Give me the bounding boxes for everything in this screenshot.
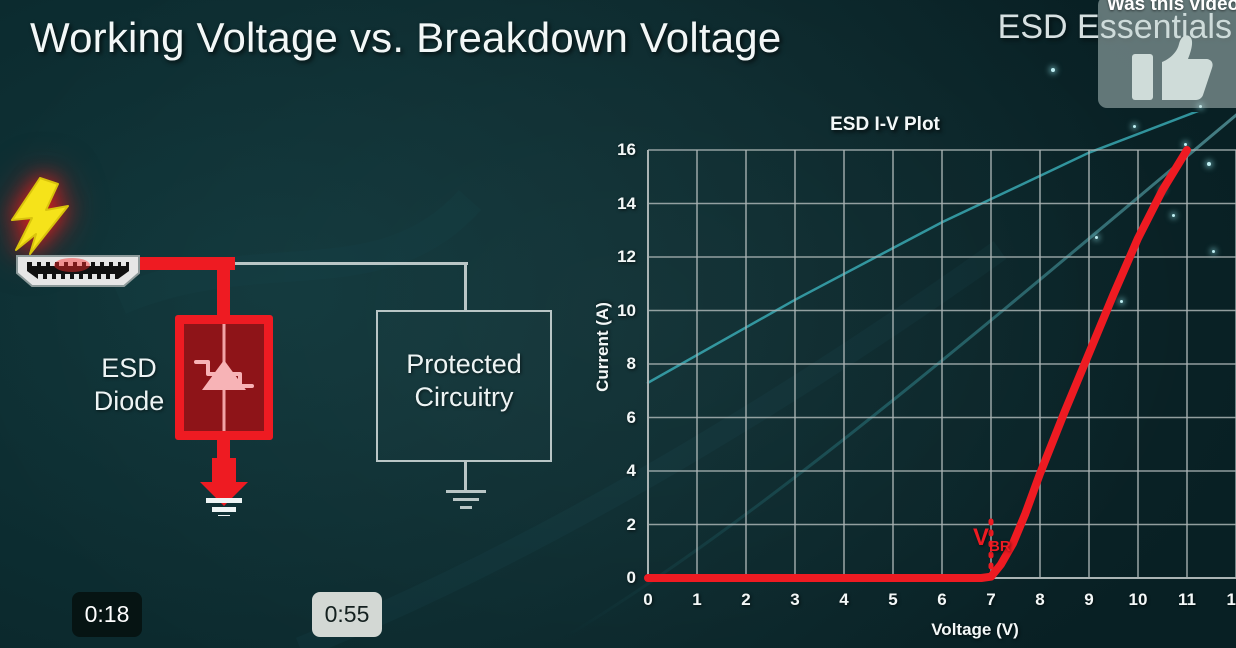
- chart-y-tick: 0: [598, 568, 636, 588]
- timestamp-badge-left[interactable]: 0:18: [72, 592, 142, 637]
- chart-x-tick: 2: [726, 590, 766, 610]
- timestamp-badge-right[interactable]: 0:55: [312, 592, 382, 637]
- signal-wire-top: [228, 262, 468, 265]
- esd-iv-chart: ESD I-V Plot Current (A) Voltage (V) 024…: [575, 112, 1236, 648]
- chart-x-tick: 4: [824, 590, 864, 610]
- circuit-diagram: ESD Diode Protected Circuitry: [0, 170, 600, 550]
- esd-diode-component[interactable]: [175, 315, 273, 440]
- chart-y-tick: 8: [598, 354, 636, 374]
- chart-y-tick: 2: [598, 515, 636, 535]
- esd-diode-label: ESD Diode: [88, 352, 170, 418]
- chart-x-tick: 12: [1216, 590, 1236, 610]
- ground-symbol-icon: [196, 458, 252, 516]
- ground-symbol-icon: [444, 490, 488, 518]
- chart-y-tick: 14: [598, 194, 636, 214]
- chart-y-tick: 12: [598, 247, 636, 267]
- chart-x-tick: 9: [1069, 590, 1109, 610]
- chart-y-tick: 4: [598, 461, 636, 481]
- protected-circuitry-label: Protected Circuitry: [376, 348, 552, 414]
- chart-x-axis-label: Voltage (V): [860, 620, 1090, 640]
- chart-x-tick: 7: [971, 590, 1011, 610]
- chart-x-tick: 8: [1020, 590, 1060, 610]
- chart-y-tick: 10: [598, 301, 636, 321]
- chart-x-tick: 1: [677, 590, 717, 610]
- chart-x-tick: 0: [628, 590, 668, 610]
- chart-title: ESD I-V Plot: [575, 114, 1195, 136]
- tvs-diode-symbol-icon: [184, 324, 264, 431]
- vbr-symbol: V: [973, 524, 989, 551]
- page-title: Working Voltage vs. Breakdown Voltage: [30, 14, 781, 62]
- chart-x-tick: 3: [775, 590, 815, 610]
- particle-dot: [1051, 68, 1055, 72]
- chart-x-tick: 5: [873, 590, 913, 610]
- survey-question-text: Was this video: [1107, 0, 1236, 16]
- esd-wire-vertical: [217, 257, 230, 322]
- thumbs-up-icon[interactable]: [1132, 32, 1214, 104]
- breakdown-voltage-annotation: VBR: [973, 524, 1011, 555]
- hdmi-connector-icon: [14, 253, 142, 289]
- protected-ground-wire: [464, 462, 467, 492]
- vbr-subscript: BR: [989, 538, 1011, 555]
- chart-x-tick: 11: [1167, 590, 1207, 610]
- chart-x-tick: 10: [1118, 590, 1158, 610]
- signal-wire-down: [464, 262, 467, 312]
- video-survey-overlay[interactable]: Was this video: [1098, 0, 1236, 108]
- chart-y-tick: 16: [598, 140, 636, 160]
- video-frame: Working Voltage vs. Breakdown Voltage ES…: [0, 0, 1236, 648]
- chart-x-tick: 6: [922, 590, 962, 610]
- chart-plot-area: [575, 112, 1236, 648]
- chart-y-tick: 6: [598, 408, 636, 428]
